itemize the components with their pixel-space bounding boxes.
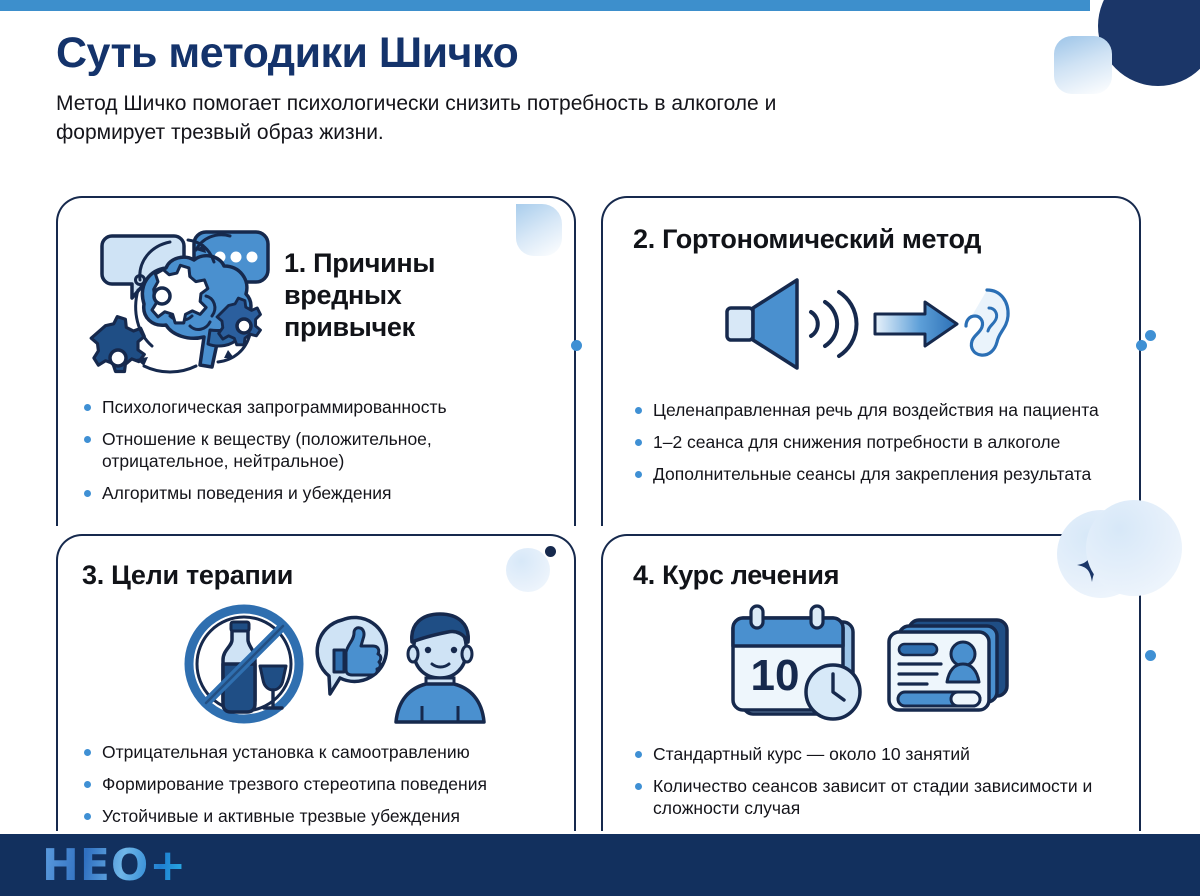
list-item: 1–2 сеанса для снижения потребности в ал… xyxy=(633,431,1119,453)
card-bullet-list: Стандартный курс — около 10 занятий Коли… xyxy=(627,743,1119,819)
decorative-dot xyxy=(1136,340,1147,351)
calendar-clock-cards-icon: 10 xyxy=(719,604,1019,729)
card-grid: 1. Причины вредных привычек Психологичес… xyxy=(56,196,1146,836)
footer-bar: НЕО+ xyxy=(0,834,1200,896)
right-edge-dot-bottom xyxy=(1145,650,1156,661)
page-subtitle: Метод Шичко помогает психологически сниз… xyxy=(56,90,856,146)
card-title: 4. Курс лечения xyxy=(627,552,1119,592)
card-header: 1. Причины вредных привычек xyxy=(82,214,554,388)
calendar-day-number: 10 xyxy=(751,651,800,700)
no-alcohol-thumbsup-person-icon xyxy=(182,604,512,729)
card-title: 2. Гортономический метод xyxy=(627,214,1119,256)
list-item: Отношение к веществу (положительное, отр… xyxy=(82,428,554,472)
list-item: Устойчивые и активные трезвые убеждения xyxy=(82,805,554,827)
card-causes[interactable]: 1. Причины вредных привычек Психологичес… xyxy=(56,196,576,526)
list-item: Количество сеансов зависит от стадии зав… xyxy=(633,775,1119,819)
list-item: Целенаправленная речь для воздействия на… xyxy=(633,399,1119,421)
card-hortonomic-method[interactable]: 2. Гортономический метод xyxy=(601,196,1141,526)
card-bullet-list: Психологическая запрограммированность От… xyxy=(82,396,554,504)
header: Суть методики Шичко Метод Шичко помогает… xyxy=(56,30,956,147)
brand-logo-text: НЕО+ xyxy=(42,840,187,891)
card-therapy-goals[interactable]: 3. Цели терапии xyxy=(56,534,576,836)
list-item: Отрицательная установка к самоотравлению xyxy=(82,741,554,763)
card-icon-row xyxy=(627,274,1119,379)
list-item: Психологическая запрограммированность xyxy=(82,396,554,418)
decorative-dot xyxy=(571,340,582,351)
top-accent-bar xyxy=(0,0,1200,11)
brain-gears-icon xyxy=(82,218,278,388)
list-item: Формирование трезвого стереотипа поведен… xyxy=(82,773,554,795)
corner-gradient-square xyxy=(1054,36,1112,94)
card-bullet-list: Целенаправленная речь для воздействия на… xyxy=(627,399,1119,485)
card-icon-row xyxy=(82,604,554,729)
decorative-navy-dot xyxy=(545,546,556,557)
brand-logo[interactable]: НЕО+ xyxy=(42,840,187,888)
list-item: Стандартный курс — около 10 занятий xyxy=(633,743,1119,765)
corner-navy-blob xyxy=(1098,0,1200,86)
card-icon-row: 10 xyxy=(627,604,1119,729)
card-bullet-list: Отрицательная установка к самоотравлению… xyxy=(82,741,554,827)
card-title: 1. Причины вредных привычек xyxy=(284,218,499,344)
speaker-arrow-ear-icon xyxy=(719,274,1019,379)
right-edge-dot-top xyxy=(1145,330,1156,341)
list-item: Дополнительные сеансы для закрепления ре… xyxy=(633,463,1119,485)
page-title: Суть методики Шичко xyxy=(56,30,956,76)
list-item: Алгоритмы поведения и убеждения xyxy=(82,482,554,504)
card-treatment-course[interactable]: 4. Курс лечения 10 xyxy=(601,534,1141,836)
card-title: 3. Цели терапии xyxy=(82,552,554,592)
